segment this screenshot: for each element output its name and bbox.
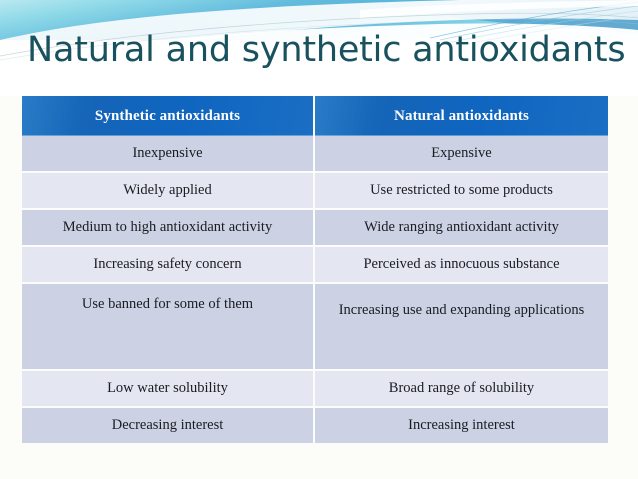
cell-synthetic: Inexpensive xyxy=(22,136,315,173)
cell-natural: Increasing use and expanding application… xyxy=(315,284,608,371)
cell-synthetic: Widely applied xyxy=(22,173,315,210)
table-row: Decreasing interestIncreasing interest xyxy=(22,408,608,445)
table-header-row: Synthetic antioxidants Natural antioxida… xyxy=(22,96,608,136)
cell-natural: Broad range of solubility xyxy=(315,371,608,408)
slide-canvas: Natural and synthetic antioxidants Synth… xyxy=(0,0,638,479)
column-header-natural: Natural antioxidants xyxy=(315,96,608,136)
cell-synthetic: Low water solubility xyxy=(22,371,315,408)
comparison-table-wrapper: Synthetic antioxidants Natural antioxida… xyxy=(22,96,608,445)
table-body: InexpensiveExpensiveWidely appliedUse re… xyxy=(22,136,608,445)
page-title: Natural and synthetic antioxidants xyxy=(27,32,617,69)
table-header: Synthetic antioxidants Natural antioxida… xyxy=(22,96,608,136)
cell-synthetic: Decreasing interest xyxy=(22,408,315,445)
table-row: Low water solubilityBroad range of solub… xyxy=(22,371,608,408)
table-row: InexpensiveExpensive xyxy=(22,136,608,173)
cell-natural: Wide ranging antioxidant activity xyxy=(315,210,608,247)
table-row: Increasing safety concernPerceived as in… xyxy=(22,247,608,284)
cell-natural: Expensive xyxy=(315,136,608,173)
column-header-synthetic: Synthetic antioxidants xyxy=(22,96,315,136)
table-row: Widely appliedUse restricted to some pro… xyxy=(22,173,608,210)
cell-natural: Increasing interest xyxy=(315,408,608,445)
comparison-table: Synthetic antioxidants Natural antioxida… xyxy=(22,96,608,445)
table-row: Use banned for some of themIncreasing us… xyxy=(22,284,608,371)
cell-synthetic: Increasing safety concern xyxy=(22,247,315,284)
cell-natural: Use restricted to some products xyxy=(315,173,608,210)
cell-synthetic: Medium to high antioxidant activity xyxy=(22,210,315,247)
cell-synthetic: Use banned for some of them xyxy=(22,284,315,371)
cell-natural: Perceived as innocuous substance xyxy=(315,247,608,284)
table-row: Medium to high antioxidant activityWide … xyxy=(22,210,608,247)
